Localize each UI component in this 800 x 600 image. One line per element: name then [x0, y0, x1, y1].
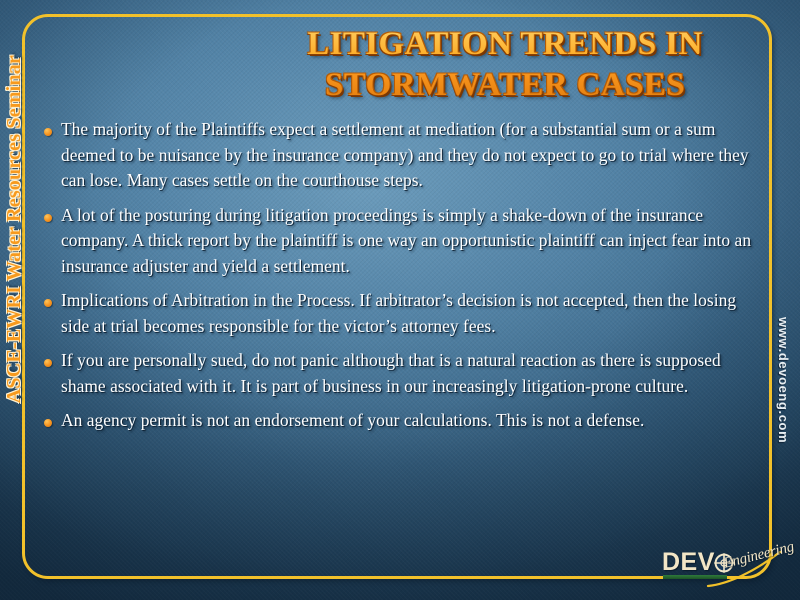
list-item: The majority of the Plaintiffs expect a …	[42, 117, 752, 194]
slide-title-line1: LITIGATION TRENDS IN	[210, 24, 800, 65]
bullet-dot-icon	[44, 359, 52, 367]
sidebar-right-banner: www.devoeng.com	[773, 317, 795, 600]
bullet-dot-icon	[44, 299, 52, 307]
list-item: A lot of the posturing during litigation…	[42, 203, 752, 280]
bullet-text: An agency permit is not an endorsement o…	[61, 410, 644, 430]
list-item: An agency permit is not an endorsement o…	[42, 408, 752, 434]
bullet-text: Implications of Arbitration in the Proce…	[61, 290, 736, 336]
slide-title-line2: STORMWATER CASES	[210, 65, 800, 106]
list-item: Implications of Arbitration in the Proce…	[42, 288, 752, 339]
bullet-text: If you are personally sued, do not panic…	[61, 350, 721, 396]
slide-title-shadow: LITIGATION TRENDS IN STORMWATER CASES	[210, 24, 800, 106]
website-url-label: www.devoeng.com	[777, 317, 792, 443]
logo-tagline: Engineering	[722, 539, 796, 573]
list-item: If you are personally sued, do not panic…	[42, 348, 752, 399]
sidebar-left-banner: ASCE-EWRI Water Resources Seminar	[0, 55, 29, 575]
presentation-slide: LITIGATION TRENDS IN STORMWATER CASES LI…	[0, 0, 800, 600]
bullet-dot-icon	[44, 214, 52, 222]
sidebar-left-label: ASCE-EWRI Water Resources Seminar	[3, 55, 26, 403]
bullet-text: A lot of the posturing during litigation…	[61, 205, 751, 276]
bullet-dot-icon	[44, 128, 52, 136]
slide-bullet-list: The majority of the Plaintiffs expect a …	[42, 117, 752, 443]
survey-target-icon	[713, 552, 735, 574]
bullet-text: The majority of the Plaintiffs expect a …	[61, 119, 749, 190]
logo-wordmark: DEV	[662, 548, 715, 577]
devo-engineering-logo: DEV Engineering	[662, 548, 782, 594]
logo-green-bar	[663, 575, 727, 579]
logo-swoosh-icon	[706, 550, 784, 592]
bullet-dot-icon	[44, 419, 52, 427]
